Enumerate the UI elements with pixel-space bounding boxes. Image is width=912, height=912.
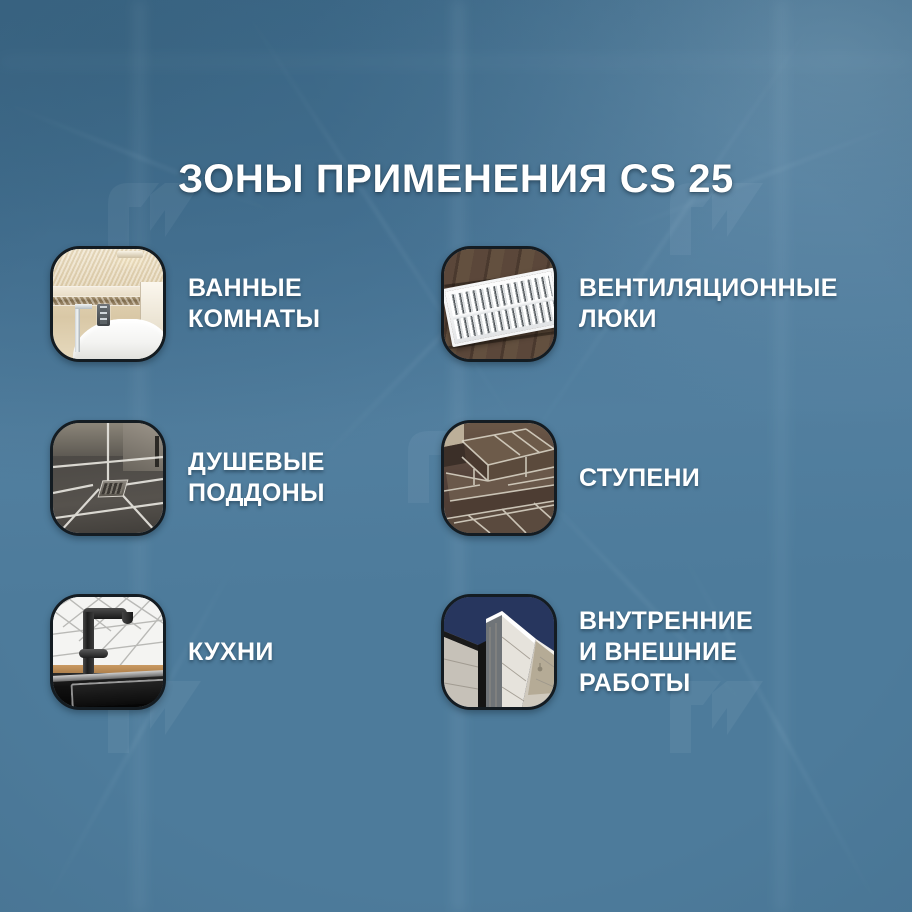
feature-label: ВНУТРЕННИЕ И ВНЕШНИЕ РАБОТЫ xyxy=(579,606,753,699)
feature-label: ВАННЫЕ КОМНАТЫ xyxy=(188,273,320,335)
feature-item-indoor-outdoor-works[interactable]: ВНУТРЕННИЕ И ВНЕШНИЕ РАБОТЫ xyxy=(441,594,753,710)
shower-tray-thumbnail xyxy=(50,420,166,536)
grid-row: ВАННЫЕ КОМНАТЫ ВЕНТИЛЯЦИОННЫЕ ЛЮКИ xyxy=(0,246,912,420)
feature-label: КУХНИ xyxy=(188,637,274,668)
feature-item-steps[interactable]: СТУПЕНИ xyxy=(441,420,700,536)
promo-poster: ЗОНЫ ПРИМЕНЕНИЯ CS 25 xyxy=(0,0,912,912)
page-title: ЗОНЫ ПРИМЕНЕНИЯ CS 25 xyxy=(0,156,912,202)
application-zones-grid: ВАННЫЕ КОМНАТЫ ВЕНТИЛЯЦИОННЫЕ ЛЮКИ xyxy=(0,246,912,768)
feature-label: ВЕНТИЛЯЦИОННЫЕ ЛЮКИ xyxy=(579,273,838,335)
feature-item-kitchens[interactable]: КУХНИ xyxy=(50,594,274,710)
grid-row: КУХНИ xyxy=(0,594,912,768)
bathroom-thumbnail xyxy=(50,246,166,362)
feature-item-ventilation-hatches[interactable]: ВЕНТИЛЯЦИОННЫЕ ЛЮКИ xyxy=(441,246,838,362)
tiled-steps-thumbnail xyxy=(441,420,557,536)
building-facade-thumbnail xyxy=(441,594,557,710)
feature-item-shower-trays[interactable]: ДУШЕВЫЕ ПОДДОНЫ xyxy=(50,420,325,536)
feature-item-bathrooms[interactable]: ВАННЫЕ КОМНАТЫ xyxy=(50,246,320,362)
feature-label: СТУПЕНИ xyxy=(579,463,700,494)
grid-row: ДУШЕВЫЕ ПОДДОНЫ xyxy=(0,420,912,594)
feature-label: ДУШЕВЫЕ ПОДДОНЫ xyxy=(188,447,325,509)
ventilation-grille-thumbnail xyxy=(441,246,557,362)
kitchen-thumbnail xyxy=(50,594,166,710)
